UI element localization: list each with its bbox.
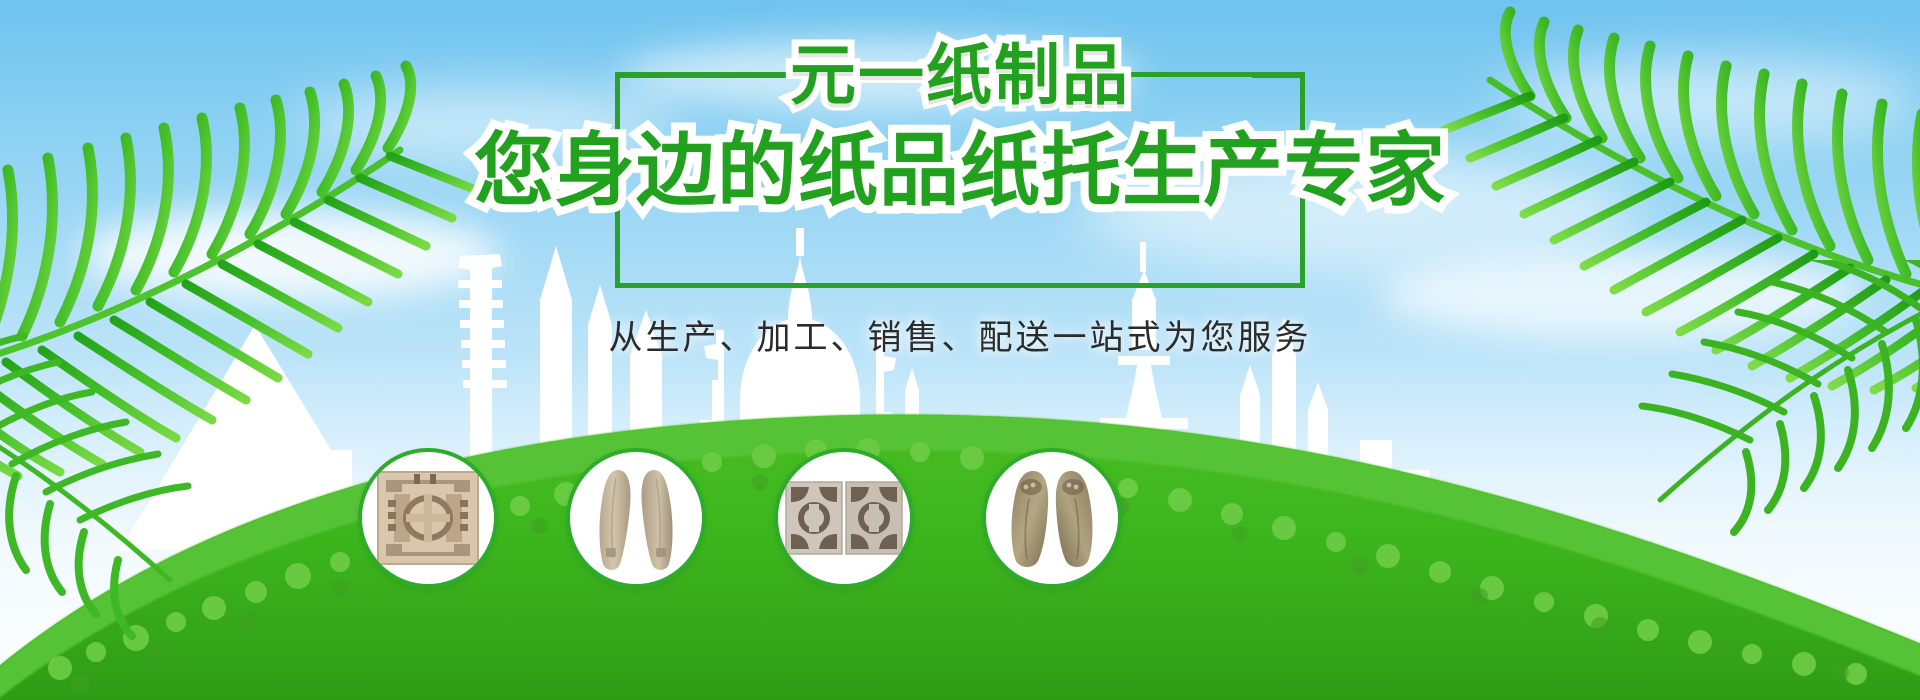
headline-block: 元一纸制品 您身边的纸品纸托生产专家 从生产、加工、销售、配送一站式为您服务 xyxy=(0,72,1920,359)
molded-pulp-shoe-forms-image xyxy=(1001,465,1103,571)
frame-rule-right xyxy=(1252,73,1300,78)
molded-pulp-square-tray-image xyxy=(376,468,480,568)
product-showcase xyxy=(0,440,1920,700)
headline-frame: 元一纸制品 您身边的纸品纸托生产专家 xyxy=(615,72,1305,288)
subtitle: 从生产、加工、销售、配送一站式为您服务 xyxy=(609,310,1312,359)
promo-banner: 元一纸制品 您身边的纸品纸托生产专家 从生产、加工、销售、配送一站式为您服务 xyxy=(0,0,1920,700)
product-circle-molded-pulp-shoe-inserts[interactable] xyxy=(566,448,706,588)
product-circle-molded-pulp-square-tray[interactable] xyxy=(358,448,498,588)
molded-pulp-shoe-inserts-image xyxy=(588,460,684,576)
molded-pulp-pair-trays-image xyxy=(785,478,903,558)
page-title: 您身边的纸品纸托生产专家 xyxy=(474,131,1446,211)
brand-name: 元一纸制品 xyxy=(790,43,1130,109)
product-circle-molded-pulp-pair-trays[interactable] xyxy=(774,448,914,588)
product-circle-molded-pulp-shoe-forms[interactable] xyxy=(982,448,1122,588)
